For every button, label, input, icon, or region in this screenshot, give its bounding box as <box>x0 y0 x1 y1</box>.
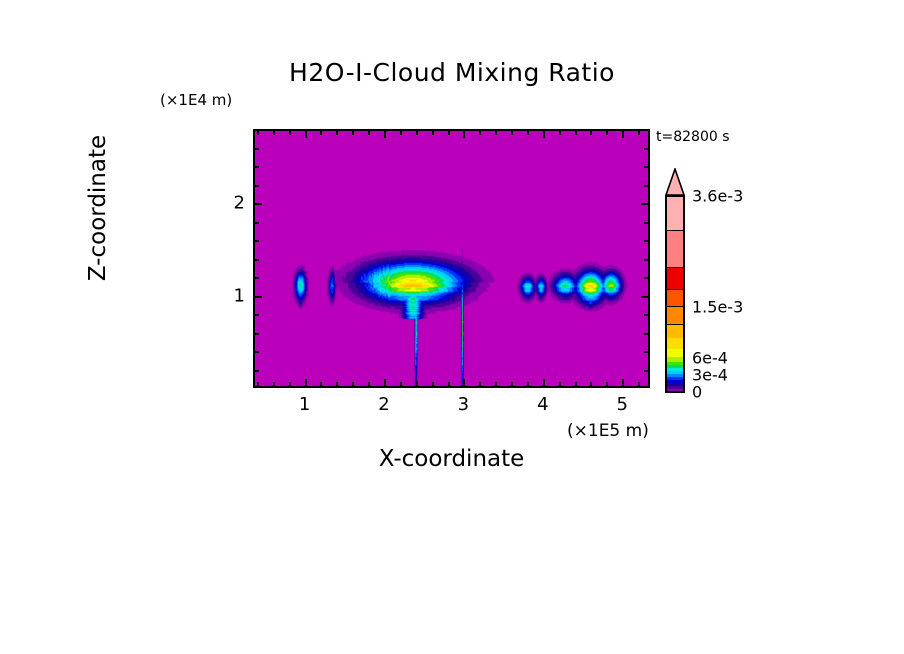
x-tick-top <box>305 130 307 138</box>
x-minor-tick <box>416 382 418 387</box>
x-major-tick <box>463 379 465 387</box>
y-tick-label: 2 <box>225 193 245 214</box>
y-minor-tick <box>254 351 259 353</box>
colorbar-band <box>667 362 683 366</box>
colorbar-band <box>667 230 683 267</box>
x-major-tick <box>543 379 545 387</box>
x-minor-tick <box>273 382 275 387</box>
x-tick-top <box>511 130 513 135</box>
plot-panel <box>253 129 650 388</box>
x-tick-top <box>432 130 434 135</box>
colorbar-band-separator <box>667 267 683 268</box>
x-minor-tick <box>479 382 481 387</box>
x-tick-top <box>273 130 275 135</box>
x-minor-tick <box>320 382 322 387</box>
x-tick-top <box>479 130 481 135</box>
x-minor-tick <box>257 382 259 387</box>
y-minor-tick <box>254 333 259 335</box>
y-minor-tick <box>254 240 259 242</box>
x-tick-label: 4 <box>537 394 548 415</box>
colorbar-band <box>667 371 683 374</box>
y-minor-tick <box>254 314 259 316</box>
colorbar-band-separator <box>667 289 683 290</box>
colorbar-band <box>667 267 683 289</box>
colorbar-band-separator <box>667 306 683 307</box>
y-minor-tick <box>254 222 259 224</box>
x-tick-top <box>559 130 561 135</box>
x-minor-tick <box>400 382 402 387</box>
x-tick-label: 1 <box>299 394 310 415</box>
colorbar-band <box>667 386 683 389</box>
x-tick-top <box>448 130 450 135</box>
colorbar-band <box>667 197 683 230</box>
colorbar-band <box>667 380 683 383</box>
y-major-tick <box>254 203 262 205</box>
x-tick-top <box>575 130 577 135</box>
x-minor-tick <box>448 382 450 387</box>
colorbar-over-arrow-icon <box>663 168 687 196</box>
y-tick-right <box>644 314 649 316</box>
colorbar-band <box>667 338 683 349</box>
colorbar-band <box>667 357 683 362</box>
y-minor-tick <box>254 148 259 150</box>
x-tick-label: 5 <box>616 394 627 415</box>
colorbar-band <box>667 289 683 307</box>
y-major-tick <box>254 296 262 298</box>
x-minor-tick <box>432 382 434 387</box>
y-tick-right <box>644 351 649 353</box>
x-minor-tick <box>511 382 513 387</box>
colorbar-band <box>667 383 683 386</box>
x-minor-tick <box>495 382 497 387</box>
heatmap-field <box>255 131 648 386</box>
y-axis-title: Z-coordinate <box>85 48 111 368</box>
x-minor-tick <box>638 382 640 387</box>
y-tick-right <box>644 333 649 335</box>
x-tick-top <box>352 130 354 135</box>
colorbar-tick-label: 3.6e-3 <box>692 187 743 206</box>
y-tick-right <box>644 222 649 224</box>
colorbar-tick-label: 1.5e-3 <box>692 298 743 317</box>
x-minor-tick <box>590 382 592 387</box>
y-tick-right <box>644 259 649 261</box>
y-tick-label: 1 <box>225 285 245 306</box>
x-tick-top <box>384 130 386 138</box>
colorbar-tick-label: 0 <box>692 383 702 402</box>
colorbar-band <box>667 377 683 380</box>
x-tick-top <box>590 130 592 135</box>
figure-root: H2O-I-Cloud Mixing Ratio (×1E4 m) t=8280… <box>0 0 904 654</box>
colorbar-band <box>667 324 683 338</box>
colorbar <box>663 168 687 396</box>
y-tick-right <box>644 277 649 279</box>
x-tick-top <box>416 130 418 135</box>
x-tick-top <box>289 130 291 135</box>
x-unit-label: (×1E5 m) <box>567 421 649 441</box>
x-major-tick <box>384 379 386 387</box>
x-tick-top <box>368 130 370 135</box>
colorbar-band-separator <box>667 230 683 231</box>
colorbar-band-separator <box>667 324 683 325</box>
x-tick-top <box>606 130 608 135</box>
colorbar-bands <box>665 195 685 393</box>
page-title: H2O-I-Cloud Mixing Ratio <box>0 58 904 87</box>
x-tick-top <box>638 130 640 135</box>
colorbar-band <box>667 349 683 357</box>
y-tick-right <box>644 240 649 242</box>
y-tick-right <box>644 185 649 187</box>
x-minor-tick <box>289 382 291 387</box>
x-axis-title: X-coordinate <box>253 446 650 472</box>
x-tick-top <box>527 130 529 135</box>
y-minor-tick <box>254 370 259 372</box>
x-tick-top <box>543 130 545 138</box>
time-annotation: t=82800 s <box>656 129 730 145</box>
x-major-tick <box>622 379 624 387</box>
colorbar-band <box>667 306 683 324</box>
x-tick-label: 3 <box>458 394 469 415</box>
x-minor-tick <box>559 382 561 387</box>
colorbar-band <box>667 392 683 393</box>
x-tick-top <box>336 130 338 135</box>
x-minor-tick <box>575 382 577 387</box>
colorbar-band <box>667 389 683 392</box>
x-tick-top <box>320 130 322 135</box>
x-tick-label: 2 <box>378 394 389 415</box>
y-tick-right <box>641 296 649 298</box>
y-tick-right <box>641 203 649 205</box>
y-tick-right <box>644 166 649 168</box>
x-tick-top <box>400 130 402 135</box>
y-minor-tick <box>254 259 259 261</box>
x-minor-tick <box>368 382 370 387</box>
y-unit-label: (×1E4 m) <box>160 91 232 109</box>
x-tick-top <box>495 130 497 135</box>
y-minor-tick <box>254 185 259 187</box>
x-minor-tick <box>352 382 354 387</box>
y-tick-right <box>644 370 649 372</box>
x-minor-tick <box>606 382 608 387</box>
colorbar-band <box>667 365 683 368</box>
colorbar-band <box>667 368 683 371</box>
y-tick-right <box>644 129 649 131</box>
x-major-tick <box>305 379 307 387</box>
x-minor-tick <box>336 382 338 387</box>
y-minor-tick <box>254 277 259 279</box>
x-tick-top <box>463 130 465 138</box>
y-minor-tick <box>254 129 259 131</box>
x-minor-tick <box>527 382 529 387</box>
x-tick-top <box>622 130 624 138</box>
y-tick-right <box>644 148 649 150</box>
y-minor-tick <box>254 166 259 168</box>
colorbar-band <box>667 374 683 377</box>
